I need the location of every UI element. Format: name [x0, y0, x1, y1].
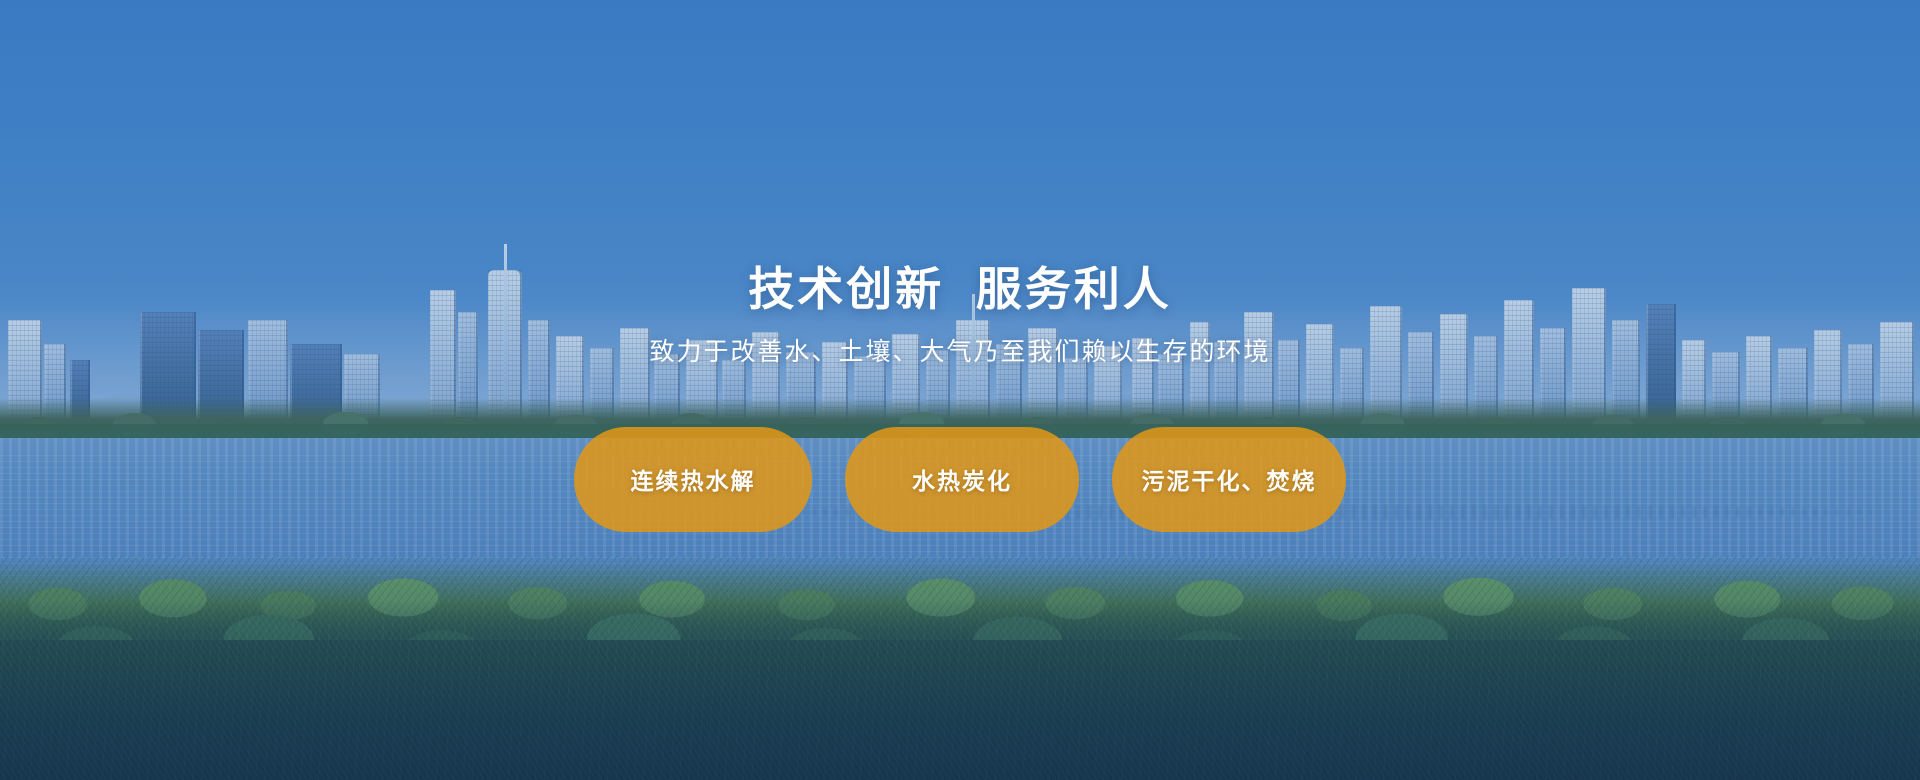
category-button-row: 连续热水解 水热炭化 污泥干化、焚烧 — [574, 427, 1346, 532]
page-subtitle: 致力于改善水、土壤、大气乃至我们赖以生存的环境 — [649, 337, 1270, 367]
category-button-continuous-thermal-hydrolysis[interactable]: 连续热水解 — [574, 427, 812, 532]
page-title: 技术创新 服务利人 — [748, 264, 1172, 315]
hero-content: 技术创新 服务利人 致力于改善水、土壤、大气乃至我们赖以生存的环境 连续热水解 … — [0, 0, 1920, 780]
hero-banner: 技术创新 服务利人 致力于改善水、土壤、大气乃至我们赖以生存的环境 连续热水解 … — [0, 0, 1920, 780]
category-button-hydrothermal-carbonization[interactable]: 水热炭化 — [845, 427, 1079, 532]
category-button-sludge-drying-incineration[interactable]: 污泥干化、焚烧 — [1112, 427, 1346, 532]
